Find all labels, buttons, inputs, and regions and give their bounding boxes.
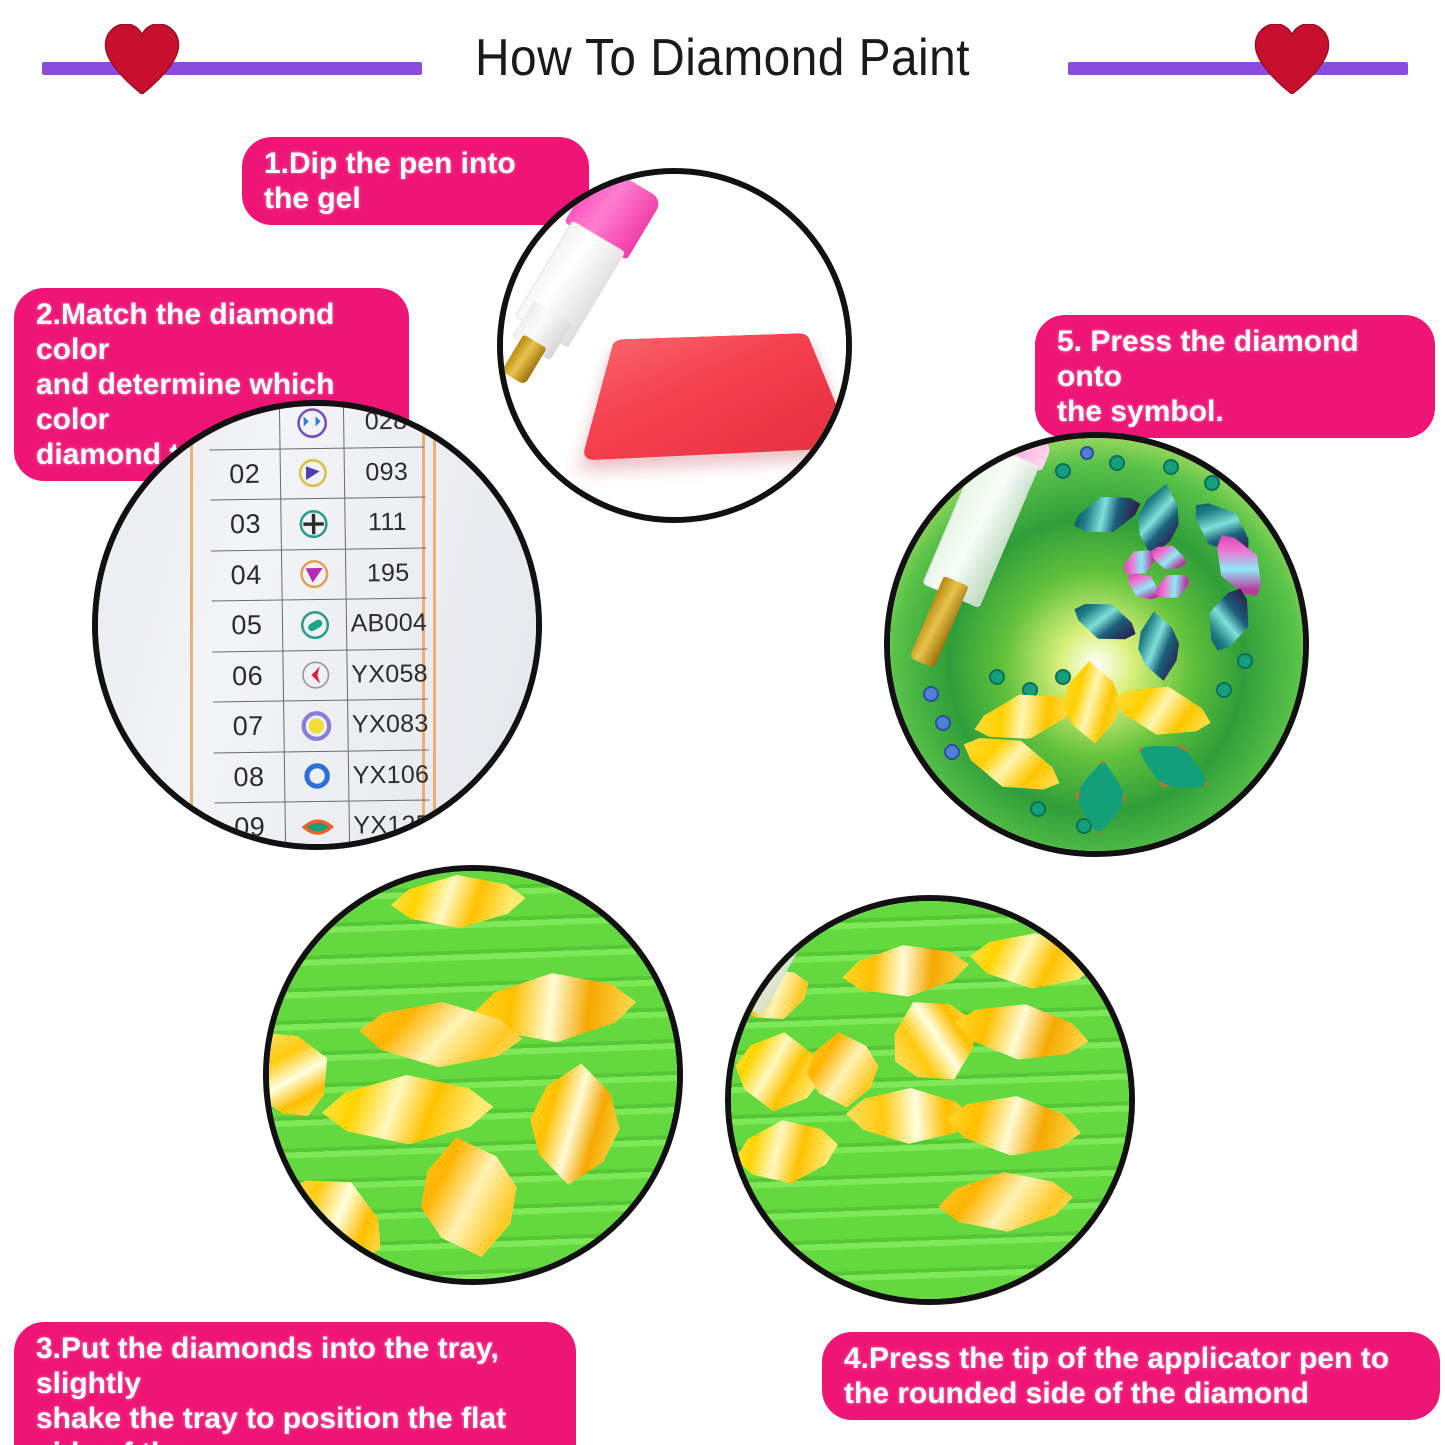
color-chart-table: 028 02 093 03 111 04 <box>209 400 430 850</box>
chart-code: YX106 <box>349 750 429 801</box>
chart-margin-stripe <box>190 406 193 844</box>
table-row: 04 195 <box>211 548 426 601</box>
double-arrow-circle-icon <box>280 400 345 448</box>
filled-disc-icon <box>284 701 349 751</box>
photo-pen-dipping-into-gel <box>497 168 852 523</box>
table-row: 028 <box>209 400 424 450</box>
chart-code: YX058 <box>347 649 427 700</box>
plus-icon <box>281 499 346 549</box>
chart-code: 195 <box>346 548 426 599</box>
table-row: 09 YX125 <box>214 801 429 850</box>
step-5-label: 5. Press the diamond onto the symbol. <box>1035 315 1435 438</box>
chart-number: 04 <box>211 550 282 600</box>
header: How To Diamond Paint <box>0 0 1445 120</box>
capsule-icon <box>282 600 347 650</box>
chart-number: 02 <box>209 449 280 499</box>
triangle-flag-icon <box>280 448 345 498</box>
chart-number: 08 <box>214 752 285 802</box>
pen-tip <box>909 575 968 668</box>
chart-code: 028 <box>344 400 424 447</box>
gem-green-dot <box>1237 653 1253 669</box>
photo-diamonds-in-green-tray <box>263 865 683 1285</box>
chart-number: 09 <box>214 803 285 850</box>
chevron-left-icon <box>283 650 348 700</box>
page-title: How To Diamond Paint <box>58 28 1387 88</box>
table-row: 07 YX083 <box>213 700 428 753</box>
chart-number: 06 <box>212 651 283 701</box>
table-row: 08 YX106 <box>214 750 429 803</box>
gem-green-dot <box>1055 463 1071 479</box>
chart-code: YX083 <box>348 700 428 751</box>
chart-code: AB004 <box>347 599 427 650</box>
chart-code: 111 <box>345 498 425 549</box>
table-row: 02 093 <box>209 447 424 500</box>
table-row: 03 111 <box>210 498 425 551</box>
chart-code: YX125 <box>350 801 430 850</box>
photo-placing-diamond-on-canvas <box>884 432 1309 857</box>
table-row: 06 YX058 <box>212 649 427 702</box>
gem-blue-dot <box>923 686 939 702</box>
gem-green-dot <box>1216 682 1232 698</box>
how-to-diamond-paint-infographic: How To Diamond Paint 1.Dip the pen into … <box>0 0 1445 1445</box>
gem-blue-dot <box>944 744 960 760</box>
chart-number: 05 <box>212 601 283 651</box>
photo-color-symbol-chart: 028 02 093 03 111 04 <box>92 400 542 850</box>
triangle-down-icon <box>282 549 347 599</box>
ring-icon <box>284 751 349 801</box>
chart-code: 093 <box>345 447 425 498</box>
chart-number: 07 <box>213 702 284 752</box>
chart-margin-stripe <box>433 406 436 844</box>
photo-pen-picking-up-diamond <box>725 895 1135 1305</box>
leaf-icon <box>285 802 350 850</box>
gem-green-dot <box>1109 455 1125 471</box>
step-4-label: 4.Press the tip of the applicator pen to… <box>822 1332 1440 1420</box>
gem-green-dot <box>1204 475 1220 491</box>
chart-number: 03 <box>210 500 281 550</box>
gem-green-dot <box>1163 459 1179 475</box>
table-row: 05 AB004 <box>212 599 427 652</box>
chart-number <box>209 400 280 449</box>
gel-pad <box>582 333 852 461</box>
step-3-label: 3.Put the diamonds into the tray, slight… <box>14 1322 576 1445</box>
